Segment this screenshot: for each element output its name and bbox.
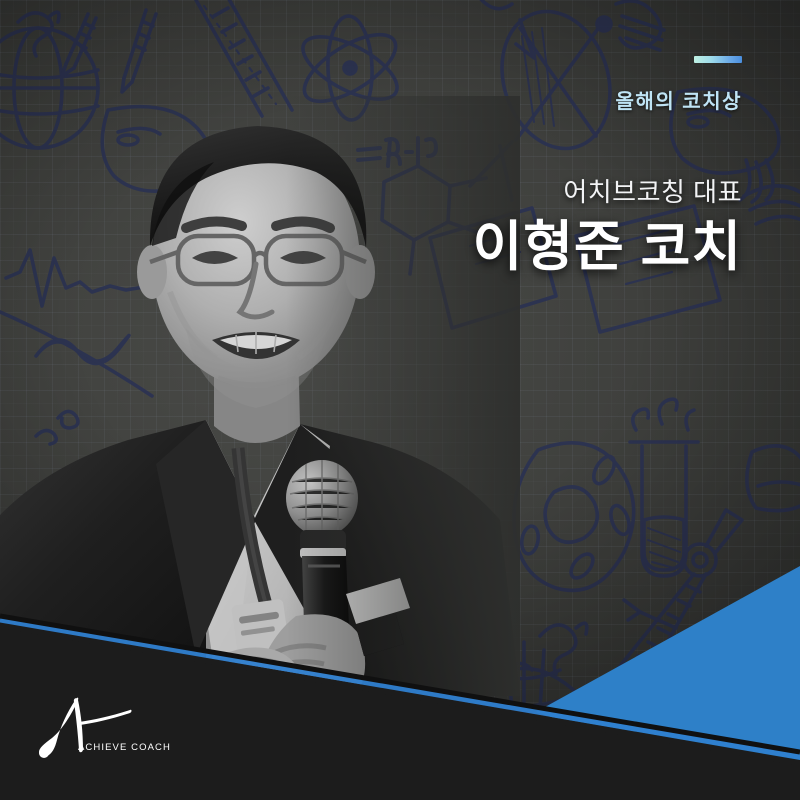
logo-wordmark: ACHIEVE COACHING: [78, 742, 170, 753]
person-role: 어치브코칭 대표: [322, 176, 742, 209]
accent-dash: [694, 56, 742, 63]
person-name: 이형준 코치: [322, 215, 742, 280]
achieve-coaching-logo: ACHIEVE COACHING: [38, 696, 170, 758]
headline-block: 올해의 코치상 어치브코칭 대표 이형준 코치: [322, 56, 742, 279]
award-eyebrow: 올해의 코치상: [322, 90, 742, 114]
award-card: 올해의 코치상 어치브코칭 대표 이형준 코치 ACHIEVE COACHING: [0, 0, 800, 800]
